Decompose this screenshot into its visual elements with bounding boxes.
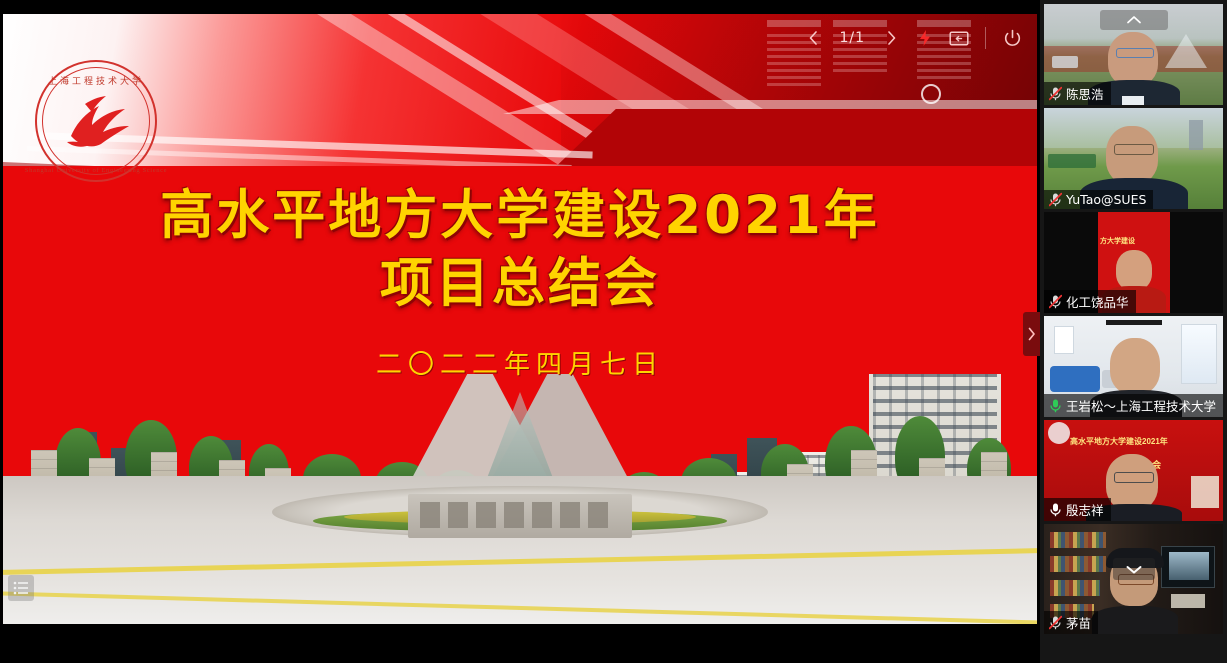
power-icon [1003,29,1022,48]
chevron-up-icon [1126,15,1142,25]
participant-name: 茅苗 [1066,613,1091,632]
participant-tile[interactable]: 茅苗 [1044,524,1223,634]
presentation-toolbar[interactable]: 1/1 [799,24,1026,52]
mic-muted-icon [1049,294,1062,309]
campus-monument-sign [408,494,632,538]
participant-name: 王岩松～上海工程技术大学 [1066,396,1216,415]
participant-tile-active-speaker[interactable]: 王岩松～上海工程技术大学 [1044,316,1223,417]
slide-date: 二〇二二年四月七日 [3,344,1037,381]
participant-name-bar: YuTao@SUES [1044,190,1153,209]
participant-name: 殷志祥 [1066,500,1104,519]
slide-title-block: 高水平地方大学建设2021年 项目总结会 二〇二二年四月七日 [3,182,1037,381]
chevron-right-icon [885,30,898,46]
banner-circle-graphic [921,84,941,104]
slide-title-line-1: 高水平地方大学建设2021年 [3,182,1037,250]
chevron-right-icon [1027,327,1036,341]
participant-tile[interactable]: YuTao@SUES [1044,108,1223,209]
participant-name-bar: 茅苗 [1044,611,1098,634]
red-bird-emblem-icon [61,92,133,152]
participant-name: 陈思浩 [1066,84,1104,103]
next-slide-button[interactable] [877,24,905,52]
laser-pointer-icon [917,29,933,47]
mic-muted-icon [1049,86,1062,101]
slide-page-indicator: 1/1 [833,30,871,46]
scroll-down-button[interactable] [1113,558,1155,580]
participant-name: YuTao@SUES [1066,192,1146,207]
participant-name-bar: 化工饶品华 [1044,290,1136,313]
logo-chinese-name: 上海工程技术大学 [21,74,171,87]
participant-name-bar: 王岩松～上海工程技术大学 [1044,394,1223,417]
popout-window-icon [949,30,969,47]
stop-share-power-button[interactable] [998,24,1026,52]
prev-slide-button[interactable] [799,24,827,52]
poster-text-line-1: 高水平地方大学建设2021年 [1070,436,1168,447]
mic-muted-icon [1049,192,1062,207]
scroll-up-button[interactable] [1100,10,1168,30]
presentation-slide: 上海工程技术大学 Shanghai University of Engineer… [3,14,1037,624]
campus-photo [3,374,1037,624]
participant-video-panel[interactable]: 陈思浩 YuTao@SUES [1040,0,1227,663]
toolbar-divider [985,27,986,49]
participant-name-bar: 殷志祥 [1044,498,1111,521]
popout-window-button[interactable] [945,24,973,52]
university-logo: 上海工程技术大学 Shanghai University of Engineer… [21,58,171,184]
chevron-down-icon [1125,564,1143,575]
poster-text-line-1: 方大学建设 [1100,236,1135,246]
shared-screen-stage: 上海工程技术大学 Shanghai University of Engineer… [0,0,1040,663]
video-conference-window: 上海工程技术大学 Shanghai University of Engineer… [0,0,1227,663]
participant-name-bar: 陈思浩 [1044,82,1111,105]
participant-tile[interactable]: 高水平地方大学建设2021年 会 殷志祥 [1044,420,1223,521]
list-icon [13,581,29,595]
mic-unmuted-icon [1049,502,1062,517]
participant-name: 化工饶品华 [1066,292,1129,311]
participant-panel-collapse-handle[interactable] [1023,312,1040,356]
slide-title-line-2: 项目总结会 [3,250,1037,318]
slide-list-button[interactable] [8,575,34,601]
laser-pointer-button[interactable] [911,24,939,52]
participant-tile[interactable]: 陈思浩 [1044,4,1223,105]
logo-english-name: Shanghai University of Engineering Scien… [21,167,171,174]
chevron-left-icon [807,30,820,46]
mic-active-icon [1049,398,1062,413]
participant-tile[interactable]: 方大学建设 告会 化工饶品华 [1044,212,1223,313]
mic-muted-icon [1049,615,1062,630]
